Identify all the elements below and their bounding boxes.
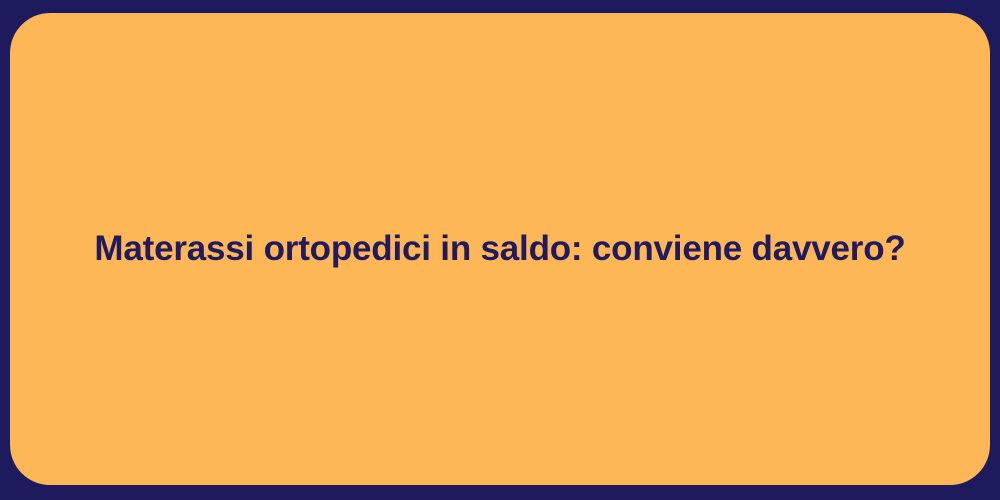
banner-frame: Materassi ortopedici in saldo: conviene … (0, 0, 1000, 500)
banner-headline: Materassi ortopedici in saldo: conviene … (94, 228, 905, 270)
banner-card: Materassi ortopedici in saldo: conviene … (10, 13, 990, 485)
